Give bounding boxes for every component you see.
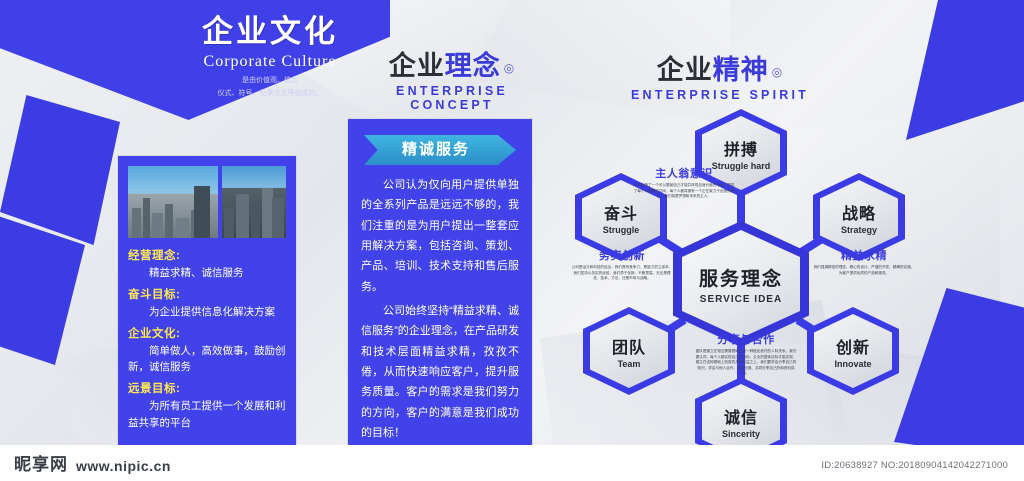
- city-photo-tall: [222, 166, 286, 238]
- poster-canvas: 企业文化 Corporate Culture 是由价值观、信念 仪式、符号、处事…: [0, 0, 1024, 481]
- note-desc: 团队是建立在相互需要基础上的一种彼此依托的人际关系。我们要认同，每个人都实现自己…: [695, 349, 797, 377]
- culture-entry-list: 经营理念: 精益求精、诚信服务 奋斗目标: 为企业提供信息化解决方案 企业文化:…: [128, 247, 286, 432]
- hexagon-label-en: Team: [612, 359, 646, 369]
- hexagon-label-en: Innovate: [834, 359, 871, 369]
- culture-entry-value: 精益求精、诚信服务: [128, 265, 286, 282]
- culture-entry-key: 企业文化:: [128, 325, 286, 341]
- spirit-hexagon-diagram: 主人翁意识 公司创造了一个可以展赋自己才能并体现自身价值的平台，提供了每个人发展…: [545, 95, 945, 455]
- concept-paragraph-2: 公司始终坚持“精益求精、诚信服务”的企业理念，在产品研发和技术层面精益求精，孜孜…: [361, 301, 519, 443]
- bg-shape-left-lower: [0, 215, 85, 365]
- asset-id-text: ID:20638927 NO:20180904142042271000: [821, 460, 1008, 471]
- sincere-service-ribbon: 精诚服务: [364, 135, 516, 165]
- hexagon-center-label-cn: 服务理念: [699, 264, 783, 291]
- note-excellence: 精益求精 我们强调精密的理念、精心的设计、严谨的开发、精确的实施，为客户提供优质…: [813, 247, 915, 276]
- note-desc: 公司创造了一个可以展赋自己才能并体现自身价值的平台，提供了每个人发展的空间，每个…: [633, 183, 735, 200]
- hexagon-label-cn: 诚信: [722, 404, 760, 428]
- concept-title-cn: 企业理念◎: [352, 44, 552, 83]
- hexagon-labels: 创新 Innovate: [834, 334, 871, 369]
- ribbon-label: 精诚服务: [364, 135, 516, 165]
- culture-detail-panel: 经营理念: 精益求精、诚信服务 奋斗目标: 为企业提供信息化解决方案 企业文化:…: [117, 155, 297, 467]
- note-ownership: 主人翁意识 公司创造了一个可以展赋自己才能并体现自身价值的平台，提供了每个人发展…: [633, 165, 735, 200]
- culture-entry-value: 为企业提供信息化解决方案: [128, 304, 286, 321]
- note-pragmatic-innovation: 务实创新 公司是运又和科技的结合，我们具有竞争力，是能力的立身本，我们坚持以务实…: [571, 247, 673, 282]
- hexagon-label-cn: 战略: [841, 200, 877, 224]
- hexagon-label-en: Sincerity: [722, 429, 760, 439]
- bullseye-icon: ◎: [504, 61, 515, 75]
- note-title: 精益求精: [813, 247, 915, 263]
- hexagon-label-cn: 奋斗: [603, 200, 640, 224]
- spirit-title-cn-dark: 企业: [657, 55, 713, 85]
- concept-title-cn-blue: 理念: [445, 51, 501, 81]
- concept-paragraph-1: 公司认为仅向用户提供单独的全系列产品是远远不够的，我们注重的是为用户提出一整套应…: [361, 175, 519, 297]
- note-title: 主人翁意识: [633, 165, 735, 181]
- hexagon-labels: 诚信 Sincerity: [722, 404, 760, 439]
- concept-title-cn-dark: 企业: [389, 51, 445, 81]
- hexagon-team[interactable]: 团队 Team: [583, 307, 675, 395]
- note-title: 务实创新: [571, 247, 673, 263]
- hexagon-labels: 服务理念 SERVICE IDEA: [699, 264, 783, 305]
- note-title: 分享与合作: [695, 331, 797, 347]
- hexagon-label-cn: 拼搏: [712, 136, 771, 160]
- hexagon-labels: 奋斗 Struggle: [603, 200, 640, 235]
- site-branding[interactable]: 昵享网 www.nipic.cn: [14, 450, 171, 475]
- city-photo-row: [128, 166, 286, 238]
- note-sharing-cooperation: 分享与合作 团队是建立在相互需要基础上的一种彼此依托的人际关系。我们要认同，每个…: [695, 331, 797, 377]
- spirit-title-cn-blue: 精神: [713, 55, 769, 85]
- note-desc: 我们强调精密的理念、精心的设计、严谨的开发、精确的实施，为客户提供优质的产品和服…: [813, 265, 915, 276]
- culture-entry-value: 为所有员工提供一个发展和利益共享的平台: [128, 398, 286, 432]
- culture-entry-key: 奋斗目标:: [128, 286, 286, 302]
- culture-entry-key: 经营理念:: [128, 247, 286, 263]
- header-enterprise-spirit: 企业精神◎ ENTERPRISE SPIRIT: [620, 48, 820, 102]
- hexagon-center-label-en: SERVICE IDEA: [699, 294, 783, 305]
- header-enterprise-concept: 企业理念◎ ENTERPRISE CONCEPT: [352, 44, 552, 112]
- bg-shape-left-mid: [0, 95, 120, 245]
- city-photo-wide: [128, 166, 218, 238]
- site-logo-url: www.nipic.cn: [76, 458, 171, 475]
- hexagon-label-en: Struggle: [603, 225, 640, 235]
- concept-title-en: ENTERPRISE CONCEPT: [352, 84, 552, 112]
- hexagon-innovate[interactable]: 创新 Innovate: [807, 307, 899, 395]
- hexagon-label-en: Strategy: [841, 225, 877, 235]
- hexagon-label-cn: 团队: [612, 334, 646, 358]
- bullseye-icon: ◎: [772, 65, 783, 79]
- hexagon-labels: 团队 Team: [612, 334, 646, 369]
- hexagon-labels: 战略 Strategy: [841, 200, 877, 235]
- site-logo-cn: 昵享网: [14, 450, 68, 475]
- culture-entry-value: 简单做人，高效做事，鼓励创新，诚信服务: [128, 343, 286, 377]
- spirit-title-cn: 企业精神◎: [620, 48, 820, 87]
- concept-detail-panel: 精诚服务 公司认为仅向用户提供单独的全系列产品是远远不够的，我们注重的是为用户提…: [347, 118, 533, 468]
- hexagon-service-idea-center[interactable]: 服务理念 SERVICE IDEA: [673, 221, 809, 347]
- note-desc: 公司是运又和科技的结合，我们具有竞争力，是能力的立身本，我们坚持以务实的经验，我…: [571, 265, 673, 282]
- culture-entry-key: 远景目标:: [128, 380, 286, 396]
- hexagon-label-cn: 创新: [834, 334, 871, 358]
